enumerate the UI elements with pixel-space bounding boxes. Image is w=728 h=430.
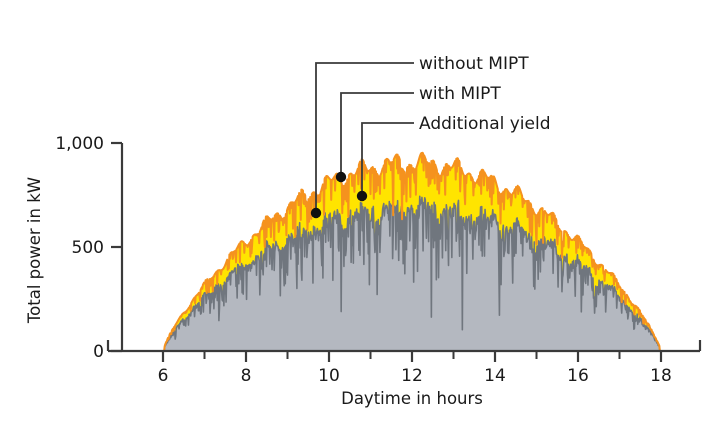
x-tick-label-14: 14: [484, 366, 506, 386]
x-tick-label-6: 6: [158, 366, 169, 386]
leader-line: [341, 93, 414, 177]
y-tick-label-0: 0: [93, 342, 104, 362]
x-tick-label-16: 16: [567, 366, 589, 386]
leader-dot: [311, 208, 321, 218]
y-axis-title: Total power in kW: [25, 177, 44, 324]
plot-area: [163, 153, 661, 351]
y-tick-label-1000: 1,000: [55, 134, 104, 154]
x-tick-label-10: 10: [318, 366, 340, 386]
x-axis-title: Daytime in hours: [341, 389, 483, 408]
power-yield-area-chart: 05001,000681012141618 Daytime in hours T…: [0, 0, 728, 430]
x-tick-label-18: 18: [650, 366, 672, 386]
y-tick-label-500: 500: [72, 238, 104, 258]
annotation-label: Additional yield: [419, 114, 551, 134]
annotation-label: without MIPT: [419, 54, 529, 74]
leader-dot: [357, 191, 367, 201]
annotation-label: with MIPT: [419, 84, 501, 104]
x-tick-label-12: 12: [401, 366, 423, 386]
x-tick-label-8: 8: [241, 366, 252, 386]
chart-container: 05001,000681012141618 Daytime in hours T…: [0, 0, 728, 430]
leader-dot: [336, 172, 346, 182]
